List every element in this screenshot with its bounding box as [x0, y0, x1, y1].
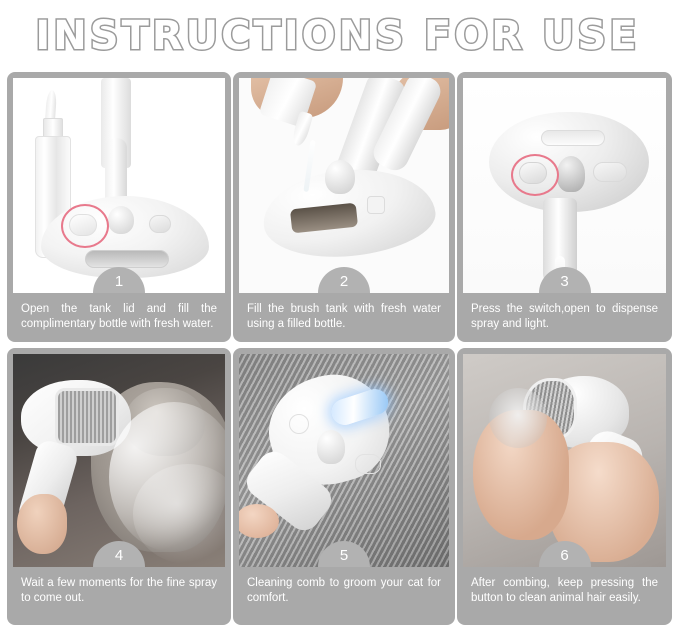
step-card-3: 3 Press the switch,open to dispense spra…	[457, 72, 672, 342]
step-photo-frame-4: 4	[13, 354, 225, 567]
step-caption-5: Cleaning comb to groom your cat for comf…	[233, 567, 455, 625]
highlight-ring-icon	[511, 154, 559, 196]
hand-shape	[17, 494, 67, 554]
step-caption-1: Open the tank lid and fill the complimen…	[7, 293, 231, 342]
step-card-5: 5 Cleaning comb to groom your cat for co…	[233, 348, 455, 625]
steps-grid: 1 Open the tank lid and fill the complim…	[0, 72, 675, 625]
brush-bristles-shape	[55, 388, 119, 446]
step-illustration-3	[463, 78, 666, 293]
step-card-1: 1 Open the tank lid and fill the complim…	[7, 72, 231, 342]
step-photo-frame-3: 3	[463, 78, 666, 293]
step-card-2: 2 Fill the brush tank with fresh water u…	[233, 72, 455, 342]
side-button-icon	[593, 162, 627, 182]
step-illustration-5	[239, 354, 449, 567]
step-caption-4: Wait a few moments for the fine spray to…	[7, 567, 231, 625]
device-knob-shape	[557, 156, 585, 192]
step-photo-frame-2: 2	[239, 78, 449, 293]
side-button-icon	[355, 454, 381, 474]
highlight-ring-icon	[61, 204, 109, 248]
page-title-area: INSTRUCTIONS FOR USE	[0, 0, 675, 72]
step-caption-6: After combing, keep pressing the button …	[457, 567, 672, 625]
power-button-icon	[149, 215, 171, 233]
step-caption-3: Press the switch,open to dispense spray …	[457, 293, 672, 342]
device-knob-shape	[317, 430, 345, 464]
page-title: INSTRUCTIONS FOR USE	[35, 13, 639, 59]
step-caption-2: Fill the brush tank with fresh water usi…	[233, 293, 455, 342]
step-card-6: 6 After combing, keep pressing the butto…	[457, 348, 672, 625]
tank-window-shape	[85, 250, 169, 268]
animal-hair-shape	[489, 388, 547, 448]
power-button-icon	[367, 196, 385, 214]
step-illustration-2	[239, 78, 449, 293]
step-illustration-1	[13, 78, 225, 293]
instructions-page: INSTRUCTIONS FOR USE	[0, 0, 675, 639]
device-knob-shape	[325, 160, 355, 194]
device-knob-shape	[108, 206, 134, 234]
power-button-icon	[289, 414, 309, 434]
step-illustration-6	[463, 354, 666, 567]
tank-window-shape	[541, 130, 605, 146]
step-photo-frame-6: 6	[463, 354, 666, 567]
step-illustration-4	[13, 354, 225, 567]
step-photo-frame-5: 5	[239, 354, 449, 567]
step-card-4: 4 Wait a few moments for the fine spray …	[7, 348, 231, 625]
step-photo-frame-1: 1	[13, 78, 225, 293]
